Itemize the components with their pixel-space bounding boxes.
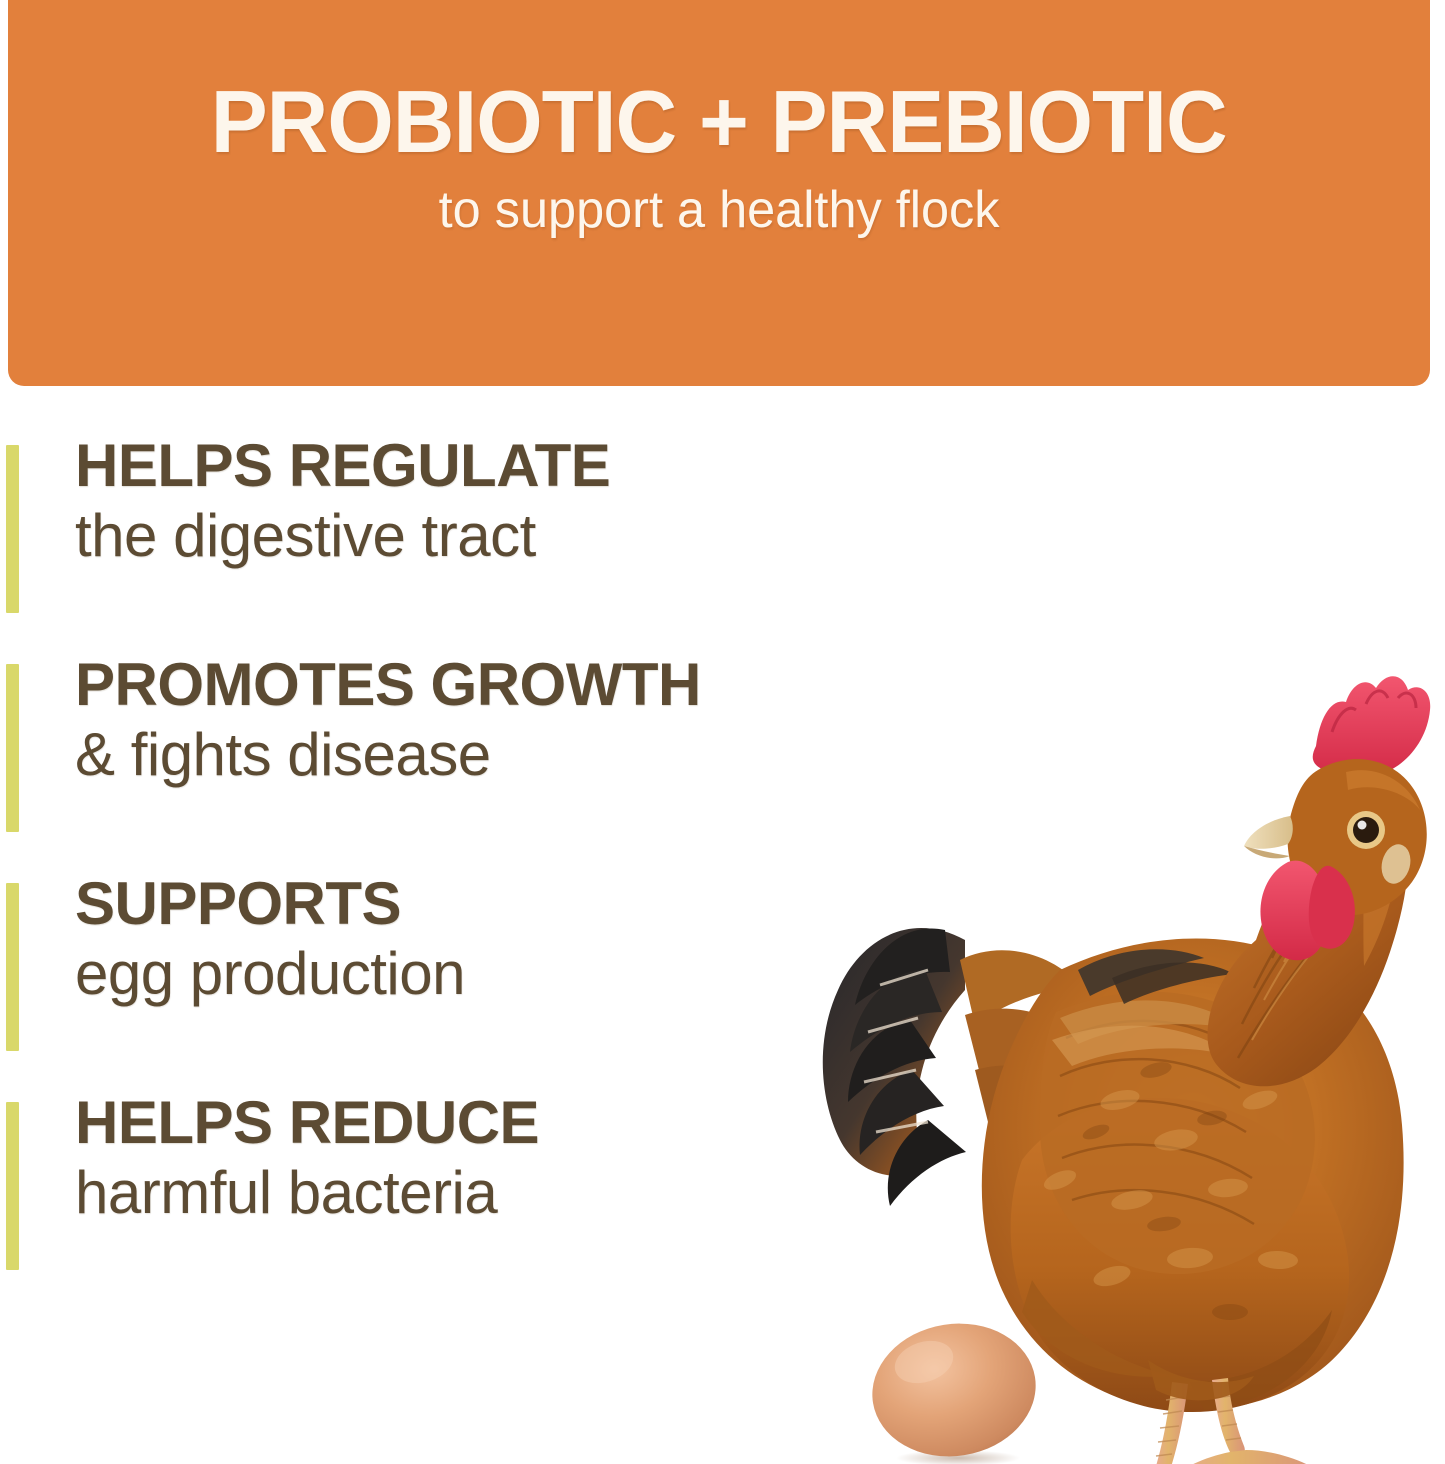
benefit-subtext: the digestive tract — [75, 501, 610, 572]
benefit-subtext: harmful bacteria — [75, 1158, 539, 1229]
benefit-text-block: HELPS REDUCE harmful bacteria — [75, 1087, 539, 1229]
chicken-head — [1244, 676, 1430, 960]
benefit-headline: HELPS REDUCE — [75, 1091, 539, 1154]
benefit-text-block: PROMOTES GROWTH & fights disease — [75, 649, 701, 791]
benefit-item-supports: SUPPORTS egg production — [0, 868, 900, 1051]
benefit-headline: HELPS REGULATE — [75, 434, 610, 497]
comb — [1313, 676, 1430, 778]
chicken-legs — [1088, 1360, 1321, 1464]
benefit-headline: PROMOTES GROWTH — [75, 653, 701, 716]
benefit-text-block: HELPS REGULATE the digestive tract — [75, 430, 610, 572]
chicken-neck — [1207, 797, 1408, 1086]
banner-title: PROBIOTIC + PREBIOTIC — [211, 78, 1227, 166]
benefit-accent-bar — [6, 1102, 19, 1270]
banner-subtitle: to support a healthy flock — [439, 184, 1000, 236]
benefit-item-helps-reduce: HELPS REDUCE harmful bacteria — [0, 1087, 900, 1270]
benefit-item-promotes-growth: PROMOTES GROWTH & fights disease — [0, 649, 900, 832]
egg-image — [862, 1318, 1052, 1464]
benefit-accent-bar — [6, 883, 19, 1051]
benefit-item-helps-regulate: HELPS REGULATE the digestive tract — [0, 430, 900, 613]
chicken-eye — [1347, 811, 1385, 849]
wattle-right — [1309, 866, 1355, 949]
header-banner: PROBIOTIC + PREBIOTIC to support a healt… — [8, 0, 1430, 386]
benefit-headline: SUPPORTS — [75, 872, 465, 935]
wattle-left — [1260, 861, 1328, 961]
benefit-text-block: SUPPORTS egg production — [75, 868, 465, 1010]
beak — [1244, 816, 1293, 849]
benefit-subtext: & fights disease — [75, 720, 701, 791]
benefit-accent-bar — [6, 664, 19, 832]
benefit-accent-bar — [6, 445, 19, 613]
benefits-list: HELPS REGULATE the digestive tract PROMO… — [0, 430, 900, 1306]
chicken-body — [982, 938, 1404, 1412]
product-feature-panel: PROBIOTIC + PREBIOTIC to support a healt… — [0, 0, 1445, 1464]
benefit-subtext: egg production — [75, 939, 465, 1010]
